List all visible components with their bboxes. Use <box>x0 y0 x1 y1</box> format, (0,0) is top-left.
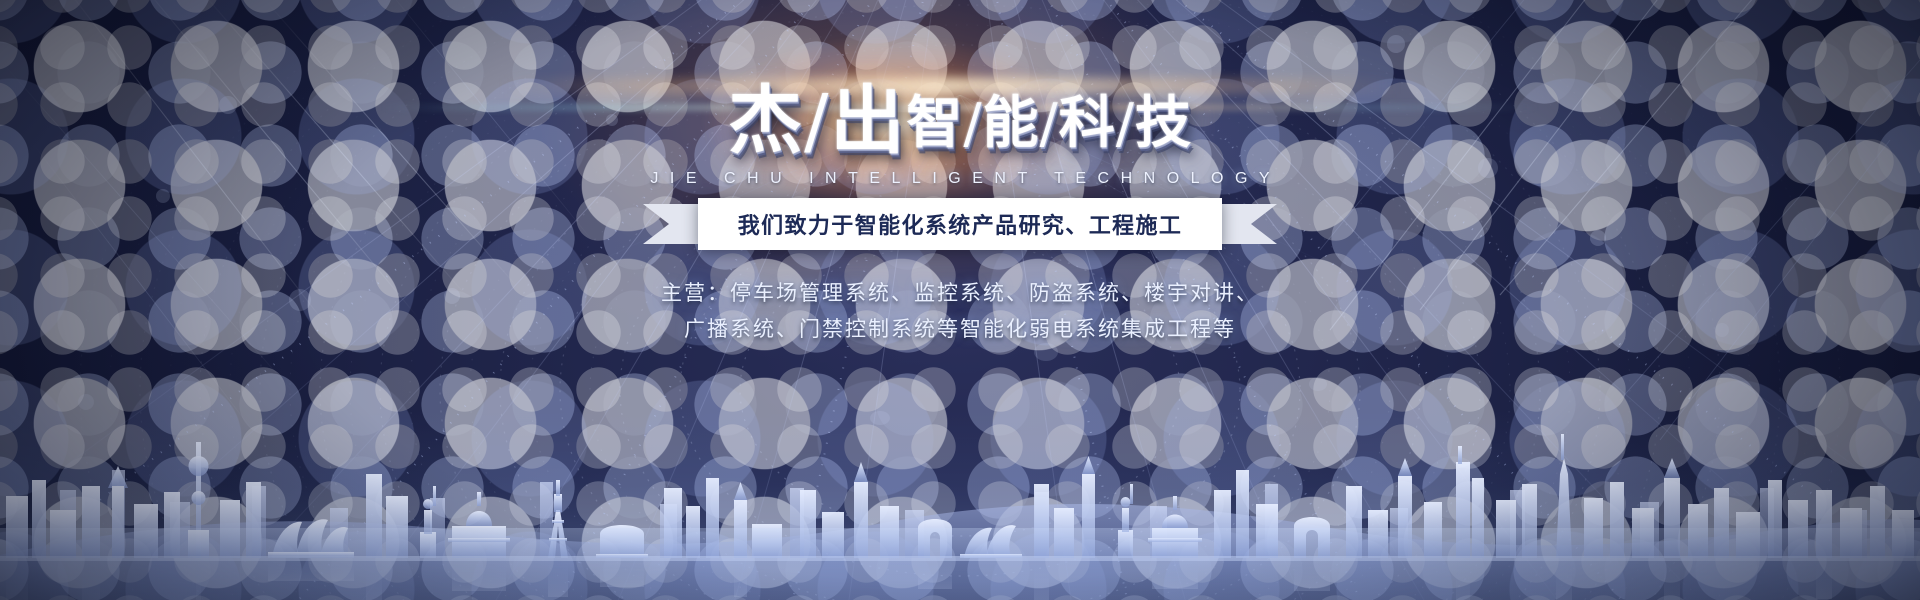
title-separator: / <box>804 85 830 157</box>
title-separator: / <box>1116 97 1135 151</box>
title-char-0: 杰 <box>728 84 804 158</box>
title-separator: / <box>1040 97 1059 151</box>
title-char-7: 科 <box>1059 96 1116 152</box>
ribbon-center: 我们致力于智能化系统产品研究、工程施工 <box>698 198 1222 250</box>
description-line-1: 主营：停车场管理系统、监控系统、防盗系统、楼宇对讲、 <box>0 275 1920 311</box>
title-char-3: 智 <box>906 96 963 152</box>
banner-content: 杰/出智/能/科/技 JIE CHU INTELLIGENT TECHNOLOG… <box>0 0 1920 600</box>
page-title: 杰/出智/能/科/技 <box>0 84 1920 158</box>
title-char-5: 能 <box>983 96 1040 152</box>
ribbon-tail-right <box>1213 204 1277 244</box>
business-description: 主营：停车场管理系统、监控系统、防盗系统、楼宇对讲、 广播系统、门禁控制系统等智… <box>0 275 1920 347</box>
hero-banner: 杰/出智/能/科/技 JIE CHU INTELLIGENT TECHNOLOG… <box>0 0 1920 600</box>
title-char-2: 出 <box>830 84 906 158</box>
description-line-2: 广播系统、门禁控制系统等智能化弱电系统集成工程等 <box>0 311 1920 347</box>
ribbon-slogan-text: 我们致力于智能化系统产品研究、工程施工 <box>738 208 1183 240</box>
english-subtitle: JIE CHU INTELLIGENT TECHNOLOGY <box>0 170 1920 188</box>
title-separator: / <box>963 97 982 151</box>
title-char-9: 技 <box>1135 96 1192 152</box>
slogan-ribbon: 我们致力于智能化系统产品研究、工程施工 <box>0 198 1920 250</box>
